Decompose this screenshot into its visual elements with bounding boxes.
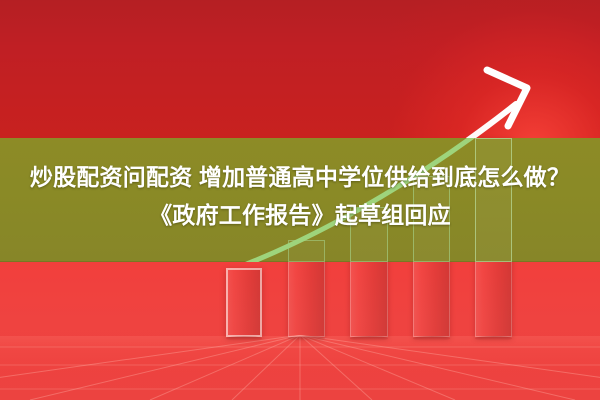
background-floor (0, 262, 600, 400)
news-banner: 炒股配资问配资 增加普通高中学位供给到底怎么做？《政府工作报告》起草组回应 (0, 0, 600, 400)
page-title: 炒股配资问配资 增加普通高中学位供给到底怎么做？《政府工作报告》起草组回应 (0, 158, 600, 234)
